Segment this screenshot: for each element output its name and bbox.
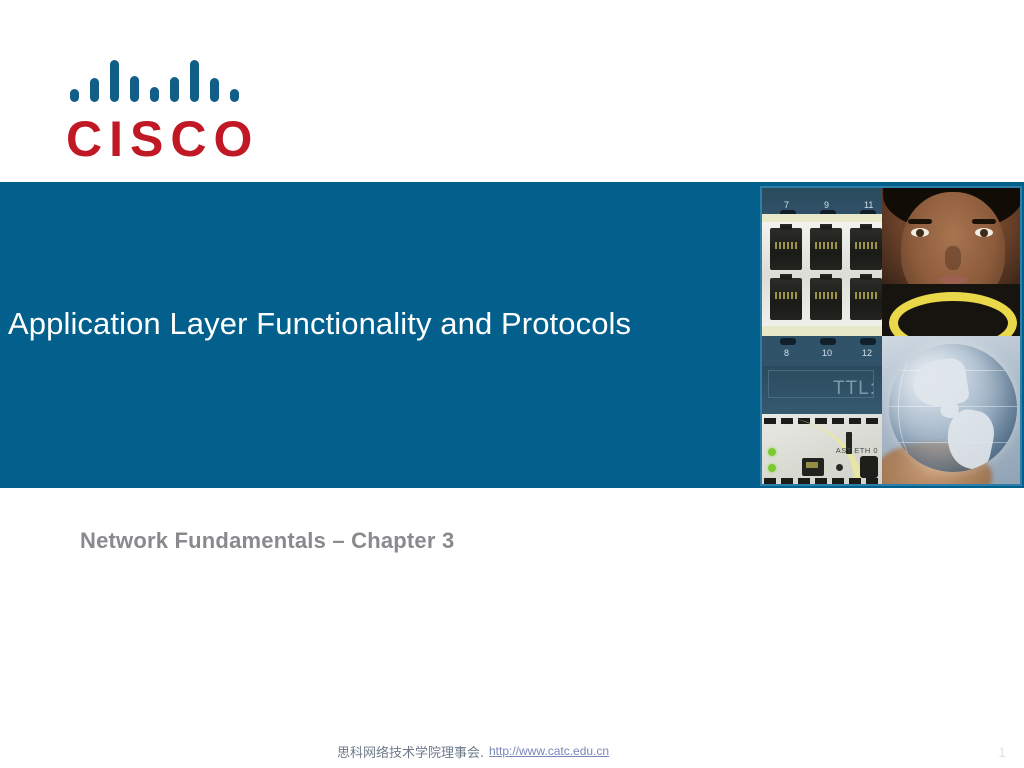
switch-port-label: 7: [784, 200, 789, 210]
cisco-logo: CISCO: [62, 52, 292, 162]
page-title: Application Layer Functionality and Prot…: [8, 306, 768, 342]
slide-footer: 思科网络技术学院理事会. http://www.catc.edu.cn: [0, 742, 1024, 768]
switch-port-label: 8: [784, 348, 789, 358]
cisco-bridge-icon: [70, 52, 246, 102]
presentation-slide: CISCO Application Layer Functionality an…: [0, 0, 1024, 768]
switch-port-label: 11: [864, 200, 873, 210]
router-port-label: AST ETH 0: [836, 446, 878, 455]
page-number: 1: [998, 744, 1006, 760]
network-switch-ports-image: 7 9 11 8 10: [762, 188, 882, 366]
switch-port-label: 9: [824, 200, 829, 210]
footer-url-link[interactable]: http://www.catc.edu.cn: [489, 744, 609, 758]
cisco-wordmark: CISCO: [66, 114, 292, 164]
console-ttl-image: TTL:: [762, 366, 882, 414]
switch-port-label: 10: [822, 348, 832, 358]
ttl-label: TTL:: [833, 378, 876, 400]
globe-in-hand-image: [882, 336, 1022, 486]
image-collage: 7 9 11 8 10: [760, 186, 1022, 486]
slide-subtitle: Network Fundamentals – Chapter 3: [80, 528, 454, 554]
router-interface-image: AST ETH 0: [762, 414, 882, 486]
footer-organization: 思科网络技术学院理事会.: [337, 742, 484, 761]
switch-port-label: 12: [862, 348, 872, 358]
student-portrait-image: [882, 188, 1022, 336]
